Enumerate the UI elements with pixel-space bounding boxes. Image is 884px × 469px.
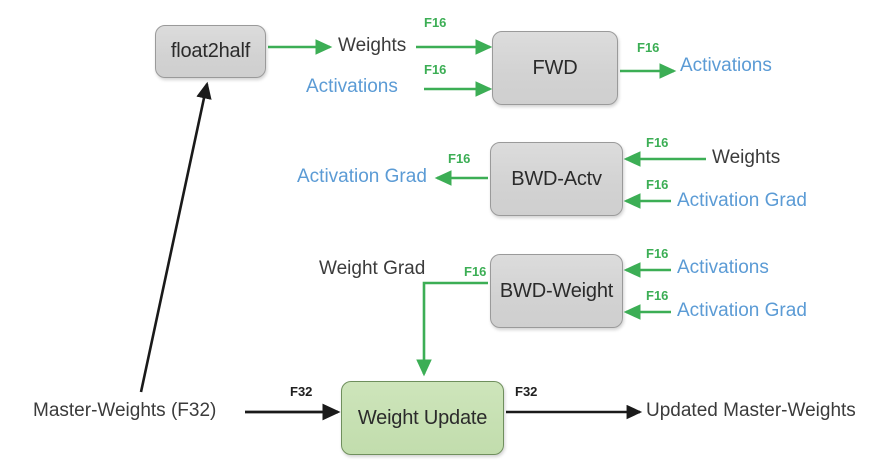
label-master-weights-input: Master-Weights (F32) [33, 401, 216, 420]
label-activation-grad-bwd-weight-input: Activation Grad [677, 301, 807, 320]
edge-label-f16-weights-to-fwd: F16 [424, 16, 446, 29]
edge-bwd-weight-to-weight-update [424, 283, 488, 374]
diagram-canvas: float2half FWD BWD-Actv BWD-Weight Weigh… [0, 0, 884, 469]
label-activations-bwd-weight-input: Activations [677, 258, 769, 277]
edge-label-f16-weights-to-bwd-actv: F16 [646, 136, 668, 149]
label-weight-grad-output: Weight Grad [319, 259, 425, 278]
edge-label-f16-activations-to-bwd-weight: F16 [646, 247, 668, 260]
node-float2half-label: float2half [171, 40, 250, 63]
label-activations-top: Activations [306, 77, 398, 96]
label-activations-fwd-output: Activations [680, 56, 772, 75]
edge-master-weights-to-float2half [141, 84, 207, 392]
edge-label-f16-actgrad-to-bwd-actv: F16 [646, 178, 668, 191]
edge-label-f16-bwd-actv-output: F16 [448, 152, 470, 165]
edge-label-f16-bwd-weight-output: F16 [464, 265, 486, 278]
label-weights-top: Weights [338, 36, 406, 55]
edge-label-f32-weight-update-to-master: F32 [515, 385, 537, 398]
edge-label-f16-actgrad-to-bwd-weight: F16 [646, 289, 668, 302]
node-float2half[interactable]: float2half [155, 25, 266, 78]
node-fwd[interactable]: FWD [492, 31, 618, 105]
node-bwd-actv[interactable]: BWD-Actv [490, 142, 623, 216]
node-bwd-weight-label: BWD-Weight [500, 280, 613, 303]
edge-label-f16-activations-to-fwd: F16 [424, 63, 446, 76]
node-bwd-weight[interactable]: BWD-Weight [490, 254, 623, 328]
node-weight-update-label: Weight Update [358, 407, 487, 430]
edge-label-f16-fwd-output: F16 [637, 41, 659, 54]
node-weight-update[interactable]: Weight Update [341, 381, 504, 455]
node-fwd-label: FWD [533, 57, 578, 80]
label-weights-bwd-actv-input: Weights [712, 148, 780, 167]
edge-label-f32-master-to-weight-update: F32 [290, 385, 312, 398]
node-bwd-actv-label: BWD-Actv [511, 168, 602, 191]
label-activation-grad-output: Activation Grad [297, 167, 427, 186]
label-activation-grad-bwd-actv-input: Activation Grad [677, 191, 807, 210]
label-updated-master-weights: Updated Master-Weights [646, 401, 856, 420]
